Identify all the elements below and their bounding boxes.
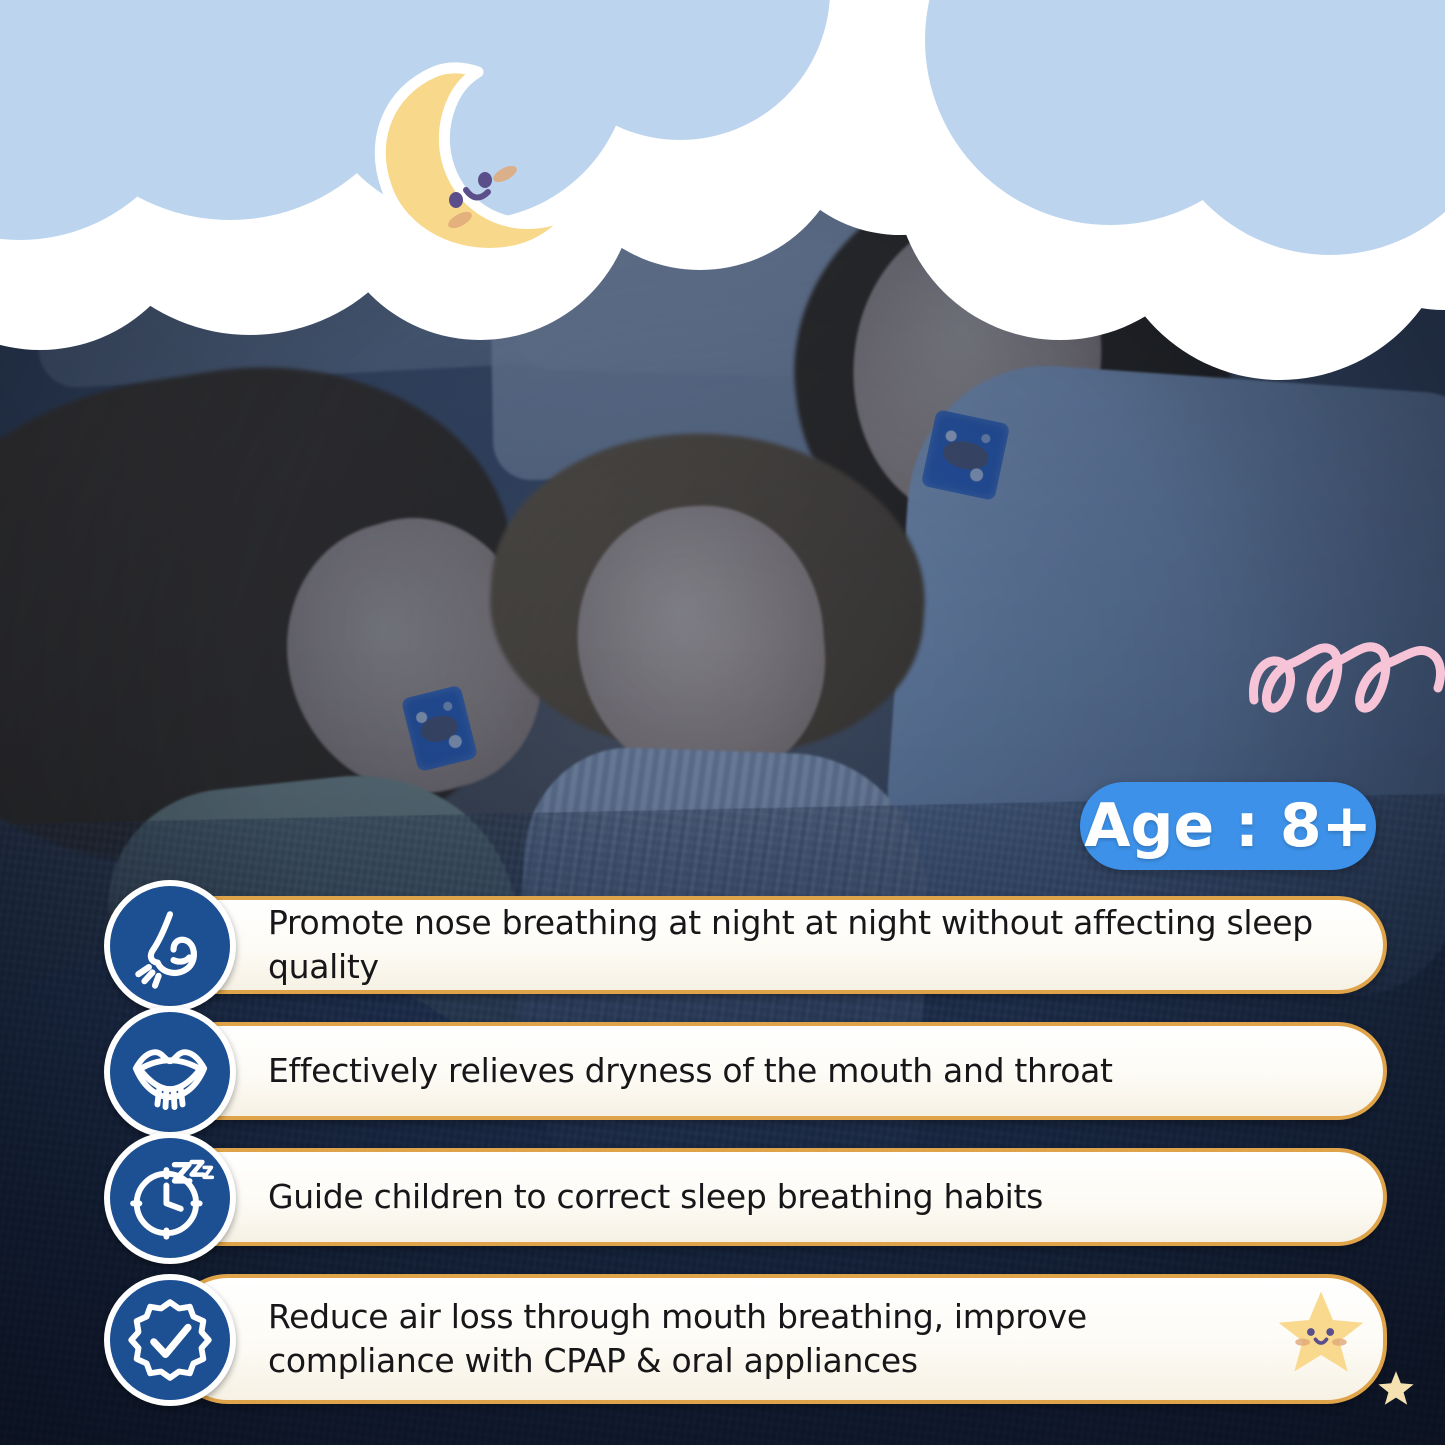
smiling-star-icon	[1275, 1286, 1367, 1378]
feature-pill: Reduce air loss through mouth breathing,…	[168, 1274, 1387, 1404]
dry-mouth-lips-icon	[104, 1006, 236, 1138]
sleep-clock-zzz-icon	[104, 1132, 236, 1264]
feature-list: Promote nose breathing at night at night…	[0, 886, 1445, 1422]
infographic-canvas: Age : 8+ Promote nose breathing at night…	[0, 0, 1445, 1445]
feature-row: Guide children to correct sleep breathin…	[0, 1138, 1445, 1256]
feature-pill: Guide children to correct sleep breathin…	[168, 1148, 1387, 1246]
sleeping-moon-icon	[368, 62, 588, 262]
nose-breathing-icon	[104, 880, 236, 1012]
feature-text: Effectively relieves dryness of the mout…	[268, 1049, 1113, 1093]
pink-squiggle-decoration	[1246, 628, 1445, 738]
feature-row: Reduce air loss through mouth breathing,…	[0, 1264, 1445, 1414]
feature-text: Guide children to correct sleep breathin…	[268, 1175, 1043, 1219]
feature-row: Effectively relieves dryness of the mout…	[0, 1012, 1445, 1130]
age-badge: Age : 8+	[1080, 782, 1376, 870]
feature-text: Reduce air loss through mouth breathing,…	[268, 1295, 1233, 1383]
feature-pill: Effectively relieves dryness of the mout…	[168, 1022, 1387, 1120]
small-star-icon	[1376, 1368, 1416, 1408]
feature-text: Promote nose breathing at night at night…	[268, 901, 1343, 989]
feature-row: Promote nose breathing at night at night…	[0, 886, 1445, 1004]
age-badge-label: Age : 8+	[1084, 796, 1372, 856]
quality-seal-check-icon	[104, 1274, 236, 1406]
feature-pill: Promote nose breathing at night at night…	[168, 896, 1387, 994]
